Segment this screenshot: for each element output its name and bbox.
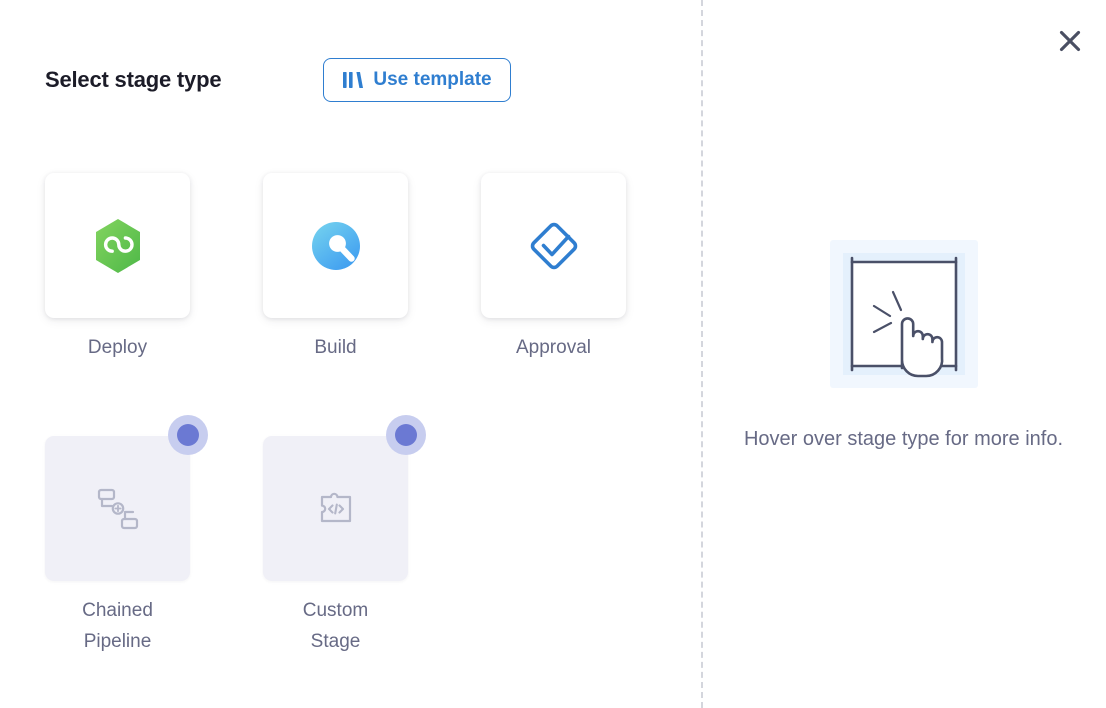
stage-type-cell-approval: Approval (481, 173, 626, 363)
stage-type-label: Build (314, 332, 356, 363)
stage-type-cell-deploy: Deploy (45, 173, 190, 363)
build-magnifier-circle-icon (310, 220, 362, 272)
stage-type-label: Deploy (88, 332, 147, 363)
stage-type-label: Approval (516, 332, 591, 363)
click-hand-square-illustration (830, 240, 978, 388)
approval-diamond-check-icon (527, 219, 581, 273)
hover-hint-text: Hover over stage type for more info. (721, 424, 1086, 455)
deploy-hexagon-infinity-icon (93, 218, 143, 274)
use-template-button[interactable]: Use template (323, 58, 510, 102)
stage-type-cell-build: Build (263, 173, 408, 363)
picker-header: Select stage type Use template (45, 58, 511, 102)
stage-type-card-deploy[interactable] (45, 173, 190, 318)
stage-type-grid: Deploy (45, 173, 665, 657)
template-library-icon (342, 71, 364, 89)
page-title: Select stage type (45, 67, 221, 93)
badge-dot (395, 424, 417, 446)
status-badge (168, 415, 208, 455)
stage-type-picker-panel: Select stage type Use template (0, 0, 701, 708)
status-badge (386, 415, 426, 455)
custom-stage-code-puzzle-icon (314, 487, 358, 531)
stage-type-cell-chained-pipeline: Chained Pipeline (45, 436, 190, 657)
stage-type-card-chained-pipeline[interactable] (45, 436, 190, 581)
stage-type-label: Custom Stage (303, 595, 368, 657)
stage-type-cell-custom-stage: Custom Stage (263, 436, 408, 657)
select-stage-type-dialog: Select stage type Use template (0, 0, 1106, 708)
stage-type-card-custom-stage[interactable] (263, 436, 408, 581)
stage-type-label: Chained Pipeline (82, 595, 153, 657)
stage-type-card-approval[interactable] (481, 173, 626, 318)
badge-dot (177, 424, 199, 446)
chained-pipeline-nodes-icon (95, 486, 141, 532)
stage-info-panel: Hover over stage type for more info. (701, 0, 1106, 708)
stage-type-card-build[interactable] (263, 173, 408, 318)
illustration-svg (830, 240, 978, 388)
use-template-label: Use template (373, 69, 491, 91)
